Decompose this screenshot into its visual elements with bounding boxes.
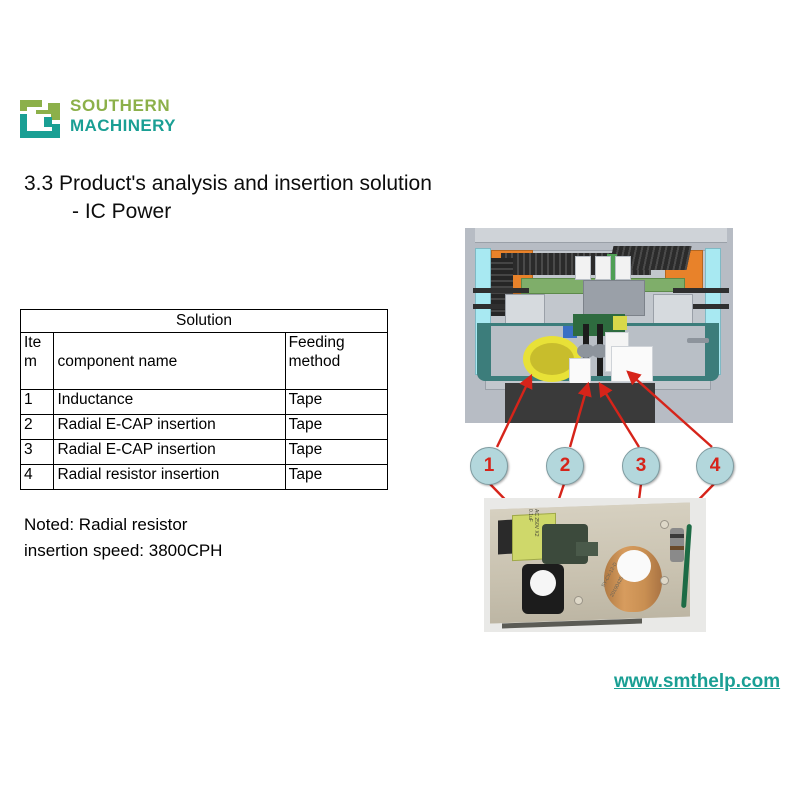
callout-badge-4[interactable]: 4	[696, 447, 734, 485]
callout-badge-1[interactable]: 1	[470, 447, 508, 485]
table-row: 3 Radial E-CAP insertion Tape	[21, 440, 388, 465]
header-cell-item: Item	[21, 333, 54, 390]
southern-machinery-logo-icon	[18, 98, 62, 140]
note-block: Noted: Radial resistor insertion speed: …	[24, 512, 222, 564]
table-title-row: Solution	[21, 310, 388, 333]
callout-badge-2[interactable]: 2	[546, 447, 584, 485]
machine-right-bar-1	[673, 288, 729, 293]
insertion-machine-diagram	[465, 228, 733, 423]
cell-feeding-method: Tape	[285, 415, 387, 440]
page-title: 3.3 Product's analysis and insertion sol…	[24, 170, 494, 226]
pcb-radial-ecap-small-top	[530, 570, 556, 596]
header-item-line2: m	[24, 353, 37, 370]
cell-item: 4	[21, 465, 54, 490]
pcb-resistor-band-2	[670, 546, 684, 550]
table-row: 4 Radial resistor insertion Tape	[21, 465, 388, 490]
machine-handle-slot	[687, 338, 709, 343]
cell-component-name: Radial E-CAP insertion	[54, 440, 285, 465]
cell-feeding-method: Tape	[285, 390, 387, 415]
machine-left-bar-1	[473, 288, 529, 293]
cell-item: 2	[21, 415, 54, 440]
brand-logo: SOUTHERN MACHINERY	[18, 96, 178, 144]
machine-white-chute-2	[611, 346, 653, 382]
footer-website-link[interactable]: www.smthelp.com	[614, 671, 780, 693]
machine-white-module-2	[595, 256, 611, 280]
page-title-line-1: 3.3 Product's analysis and insertion sol…	[24, 170, 494, 198]
note-line-2: insertion speed: 3800CPH	[24, 538, 222, 564]
cell-feeding-method: Tape	[285, 465, 387, 490]
machine-control-box	[583, 280, 645, 316]
header-feed-line2: method	[289, 353, 341, 370]
slide-canvas: SOUTHERN MACHINERY 3.3 Product's analysi…	[0, 0, 800, 800]
header-cell-feeding-method: Feedingmethod	[285, 333, 387, 390]
ic-power-pcb-photo: AC 250V X2 0.1uF SY-CX-12-D 20190425	[484, 498, 706, 632]
table-row: 2 Radial E-CAP insertion Tape	[21, 415, 388, 440]
brand-line-2: MACHINERY	[70, 116, 176, 136]
pcb-green-cap-label: AC 250V X2 0.1uF	[527, 509, 539, 539]
cell-item: 3	[21, 440, 54, 465]
table-row: 1 Inductance Tape	[21, 390, 388, 415]
note-line-1: Noted: Radial resistor	[24, 512, 222, 538]
header-name-text: component name	[57, 333, 281, 371]
machine-white-module-1	[575, 256, 591, 280]
cell-feeding-method: Tape	[285, 440, 387, 465]
cell-item: 1	[21, 390, 54, 415]
pcb-resistor-band-1	[670, 534, 684, 538]
cell-component-name: Inductance	[54, 390, 285, 415]
brand-line-1: SOUTHERN	[70, 96, 176, 116]
pcb-via-3	[574, 596, 583, 605]
cell-component-name: Radial E-CAP insertion	[54, 415, 285, 440]
callout-badge-3[interactable]: 3	[622, 447, 660, 485]
solution-table-body: 1 Inductance Tape 2 Radial E-CAP inserti…	[21, 390, 388, 490]
cell-component-name: Radial resistor insertion	[54, 465, 285, 490]
solution-table: Solution Item component name Feedingmeth…	[20, 309, 388, 490]
page-title-line-2: - IC Power	[24, 198, 494, 226]
table-header-row: Item component name Feedingmethod	[21, 333, 388, 390]
brand-wordmark: SOUTHERN MACHINERY	[70, 96, 176, 136]
machine-dark-base	[505, 383, 655, 423]
header-item-line1: Ite	[24, 334, 41, 351]
pcb-via-2	[660, 576, 669, 585]
pcb-transformer-tab	[576, 542, 598, 556]
solution-table-wrapper: Solution Item component name Feedingmeth…	[20, 309, 388, 490]
machine-yellow-block	[613, 316, 627, 330]
pcb-via-1	[660, 520, 669, 529]
header-cell-component-name: component name	[54, 333, 285, 390]
machine-white-module-3	[615, 256, 631, 280]
header-feed-line1: Feeding	[289, 334, 345, 351]
table-title-cell: Solution	[21, 310, 388, 333]
machine-top-bar	[475, 228, 727, 243]
